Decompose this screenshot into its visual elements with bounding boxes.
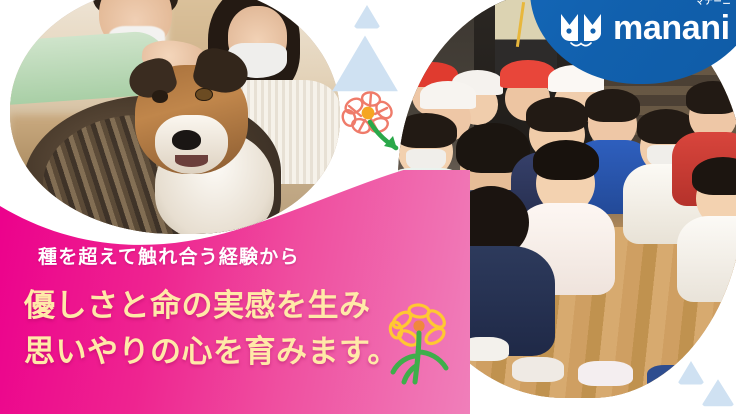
hero-lead-line: 種を超えて触れ合う経験から [38,242,300,269]
hero-copy: 種を超えて触れ合う経験から 優しさと命の実感を生み 思いやりの心を育みます。 [0,170,470,414]
brand-logo[interactable]: manani マナーニ [558,8,730,48]
kid-front-right [696,170,736,227]
kid-front-center [536,153,595,214]
kid-mid-6 [689,92,736,141]
cat-face-icon [558,8,604,48]
hero-headline-line-1: 優しさと命の実感を生み [24,280,371,325]
brand-name: manani マナーニ [613,11,730,45]
shoe-3 [578,361,633,385]
dog-eye-left [152,90,169,102]
triangle-small-top-icon [352,4,382,30]
hero-headline-line-2: 思いやりの心を育みます。 [24,326,399,371]
dog-mouth [175,155,208,167]
brand-furigana: マナーニ [696,0,732,6]
triangle-bottom-right-1-icon [700,378,736,408]
dog-nose [172,130,202,150]
brand-name-text: manani [613,9,730,47]
shoe-2 [512,357,564,381]
dog-eye-right [195,88,213,102]
hero-banner: 種を超えて触れ合う経験から 優しさと命の実感を生み 思いやりの心を育みます。 m… [0,0,736,414]
kid-mid-4 [588,100,636,149]
